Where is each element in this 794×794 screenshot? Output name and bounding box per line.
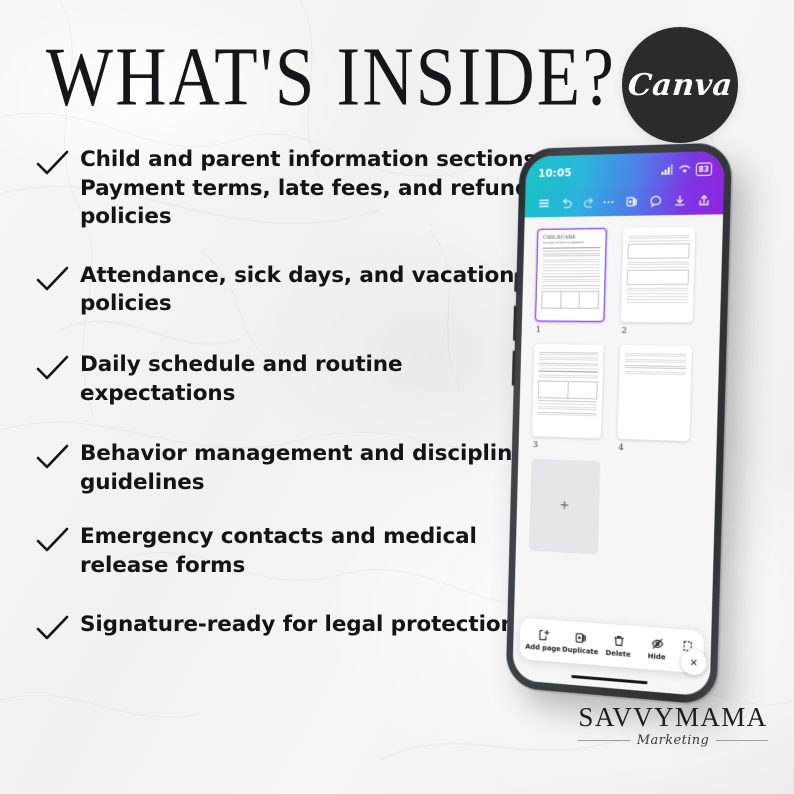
doc-lines — [539, 362, 599, 369]
page-number: 3 — [533, 440, 601, 452]
check-icon — [28, 150, 80, 180]
brand-logo: SAVVYMAMA Marketing — [578, 704, 768, 748]
duplicate-icon — [574, 631, 588, 646]
duplicate-button[interactable]: Duplicate — [561, 630, 599, 657]
phone-screen: 10:05 83 — [512, 151, 725, 697]
page-title: WHAT'S INSIDE? — [46, 36, 616, 120]
doc-lines — [542, 270, 600, 274]
doc-rule — [543, 247, 601, 248]
list-item-line: Signature-ready for legal protection — [80, 611, 516, 640]
list-item-line: policies — [80, 290, 514, 319]
list-item: Daily schedule and routine expectations — [28, 351, 498, 408]
page-number: 4 — [618, 443, 689, 455]
doc-heading: CHILDCARE — [543, 234, 601, 241]
hide-button[interactable]: Hide — [637, 635, 677, 662]
doc-table — [541, 291, 599, 309]
status-clock: 10:05 — [538, 166, 572, 180]
close-icon: × — [690, 654, 698, 670]
canva-badge: Canva — [622, 27, 738, 143]
list-item-line: release forms — [80, 552, 477, 581]
list-item-line: Behavior management and discipline — [80, 440, 527, 469]
brand-name: SAVVYMAMA — [578, 704, 768, 731]
delete-icon — [611, 633, 625, 648]
page-thumbnail-cell[interactable]: CHILDCARE DAYCARE CONTRACT & AGREEMENT — [535, 228, 607, 336]
list-item-text: Signature-ready for legal protection — [80, 611, 516, 640]
doc-lines — [542, 285, 600, 289]
download-icon[interactable] — [670, 189, 690, 212]
close-button[interactable]: × — [681, 649, 707, 676]
list-item-line: guidelines — [80, 469, 527, 498]
doc-lines — [542, 276, 600, 282]
page-thumbnail-cell[interactable]: 2 — [620, 227, 695, 337]
list-item-line: Daily schedule and routine — [80, 351, 402, 380]
brand-tagline-row: Marketing — [578, 733, 768, 748]
share-icon[interactable] — [694, 189, 715, 212]
delete-label: Delete — [605, 649, 631, 659]
check-icon — [28, 527, 80, 557]
check-icon — [28, 355, 80, 385]
doc-lines — [539, 351, 599, 361]
list-item-text: Behavior management and discipline guide… — [80, 440, 527, 497]
doc-lines — [628, 235, 690, 242]
wifi-icon — [678, 164, 690, 174]
doc-lines — [537, 411, 597, 416]
doc-rule — [539, 371, 598, 373]
thumbnail-row: 3 4 — [532, 344, 705, 456]
phone-body: 10:05 83 — [506, 142, 733, 705]
doc-lines — [624, 365, 686, 370]
status-bar: 10:05 83 — [525, 151, 724, 190]
doc-lines — [625, 359, 687, 364]
select-icon — [680, 639, 695, 654]
select-label: Se — [682, 655, 692, 664]
doc-lines — [627, 261, 689, 268]
check-icon — [28, 444, 80, 474]
phone-volume-up-button[interactable] — [513, 306, 517, 341]
list-item-text: Child and parent information sections Pa… — [80, 146, 536, 232]
add-page-placeholder[interactable]: + — [529, 459, 600, 555]
list-item: Child and parent information sections Pa… — [28, 146, 498, 232]
list-item-line: Attendance, sick days, and vacation — [80, 262, 514, 291]
pages-icon[interactable] — [622, 190, 642, 212]
duplicate-label: Duplicate — [562, 646, 598, 657]
list-item: Signature-ready for legal protection — [28, 611, 498, 645]
brand-tagline: Marketing — [637, 733, 710, 748]
list-item-text: Emergency contacts and medical release f… — [80, 523, 477, 580]
list-item-line: expectations — [80, 380, 402, 409]
doc-table — [538, 380, 598, 399]
doc-lines — [626, 299, 688, 303]
select-button[interactable]: Se — [676, 638, 699, 664]
hide-icon — [650, 636, 664, 651]
phone-volume-down-button[interactable] — [512, 351, 516, 386]
list-item: Behavior management and discipline guide… — [28, 440, 498, 497]
doc-box — [627, 243, 689, 259]
doc-box — [627, 270, 689, 285]
add-page-label: Add page — [525, 643, 561, 654]
delete-button[interactable]: Delete — [599, 633, 638, 660]
check-icon — [28, 266, 80, 296]
doc-lines — [543, 250, 601, 257]
doc-lines — [538, 400, 598, 410]
redo-icon[interactable] — [580, 191, 600, 213]
brand-divider-right — [716, 740, 768, 741]
page-thumbnail-4[interactable] — [618, 345, 692, 441]
app-toolbar — [525, 186, 724, 218]
doc-lines — [624, 371, 686, 376]
page-thumbnail-2[interactable] — [621, 227, 695, 323]
list-item-line: Emergency contacts and medical — [80, 523, 477, 552]
page-thumbnail-1[interactable]: CHILDCARE DAYCARE CONTRACT & AGREEMENT — [535, 228, 607, 322]
list-item-line: policies — [80, 203, 536, 232]
canva-badge-label: Canva — [626, 68, 734, 103]
page-thumbnail-cell[interactable]: 4 — [617, 345, 692, 455]
doc-lines — [542, 259, 600, 268]
plus-icon: + — [560, 497, 569, 515]
list-item-text: Daily schedule and routine expectations — [80, 351, 402, 408]
poster-canvas: WHAT'S INSIDE? Canva Child and parent in… — [0, 0, 794, 794]
list-item: Attendance, sick days, and vacation poli… — [28, 262, 498, 319]
add-page-button[interactable]: Add page — [524, 627, 562, 653]
cellular-signal-icon — [661, 164, 673, 174]
menu-icon[interactable] — [534, 192, 553, 214]
comment-icon[interactable] — [646, 190, 666, 213]
hide-label: Hide — [648, 652, 666, 661]
doc-subheading: DAYCARE CONTRACT & AGREEMENT — [543, 241, 601, 245]
list-item-line: Payment terms, late fees, and refund — [80, 175, 536, 204]
list-item: Emergency contacts and medical release f… — [28, 523, 498, 580]
list-item-line: Child and parent information sections — [80, 146, 536, 175]
page-thumbnail-cell[interactable]: 3 — [532, 344, 604, 452]
list-item-text: Attendance, sick days, and vacation poli… — [80, 262, 514, 319]
page-number: 2 — [621, 326, 692, 337]
thumbnail-row: CHILDCARE DAYCARE CONTRACT & AGREEMENT — [535, 227, 709, 337]
status-icons: 83 — [661, 162, 712, 177]
phone-mockup: 10:05 83 — [485, 131, 766, 723]
battery-indicator: 83 — [695, 162, 712, 176]
doc-lines — [538, 374, 598, 379]
phone-mute-button[interactable] — [514, 272, 517, 292]
doc-lines — [626, 288, 688, 297]
brand-divider-left — [578, 740, 630, 741]
feature-list: Child and parent information sections Pa… — [28, 146, 498, 671]
add-page-icon — [536, 628, 550, 643]
undo-icon[interactable] — [557, 192, 576, 214]
page-number: 1 — [536, 325, 604, 335]
check-icon — [28, 615, 80, 645]
doc-lines — [625, 353, 687, 357]
page-thumbnail-3[interactable] — [532, 344, 604, 438]
more-options-icon[interactable] — [599, 191, 619, 213]
